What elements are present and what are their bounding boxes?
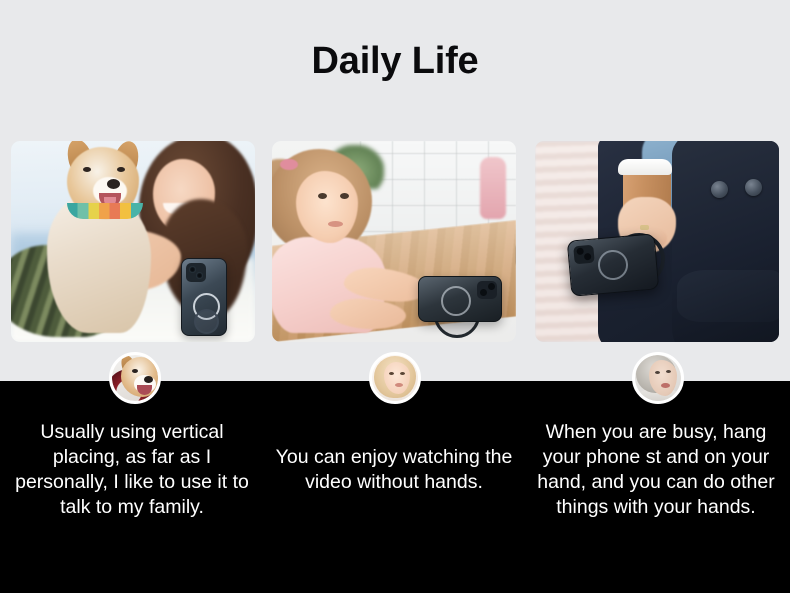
phone-hanging-from-finger (567, 234, 660, 297)
page-title: Daily Life (312, 40, 479, 101)
person-portrait-avatar (632, 352, 684, 404)
phone-with-ring-stand-horizontal (418, 276, 502, 322)
lifestyle-photo-1 (11, 141, 255, 342)
avatar-image (635, 355, 681, 401)
testimonial-caption-2: You can enjoy watching the video without… (268, 445, 520, 495)
child-eye-right (340, 193, 349, 199)
lips (661, 383, 670, 388)
eye-right (666, 370, 671, 373)
dog-nose (107, 179, 120, 189)
caption-row: Usually using vertical placing, as far a… (0, 420, 790, 550)
lifestyle-photo-3 (535, 141, 779, 342)
scene-coat-coffee (535, 141, 779, 342)
magsafe-ring-icon (597, 249, 630, 282)
eye-left (389, 372, 394, 375)
shiba-dog-avatar (109, 352, 161, 404)
scene-kitchen-child (272, 141, 516, 342)
child-eye-left (318, 193, 327, 199)
avatar-image (112, 355, 158, 401)
coat-button-1 (711, 181, 728, 198)
phone-camera-module (186, 263, 206, 282)
scene-beach-dog (11, 141, 255, 342)
product-feature-page: Daily Life (0, 0, 790, 593)
testimonial-caption-3: When you are busy, hang your phone st an… (528, 420, 784, 520)
testimonial-caption-1: Usually using vertical placing, as far a… (8, 420, 256, 520)
dog-nose (144, 376, 153, 383)
lips (395, 383, 403, 387)
pink-vase (480, 157, 506, 219)
face (384, 362, 410, 394)
photo-row (0, 141, 790, 342)
dog-beaded-collar (67, 203, 143, 219)
avatar-image (372, 355, 418, 401)
finger-ring (640, 225, 649, 230)
child-lips (328, 221, 343, 227)
hair-bow (280, 159, 298, 170)
dog-eye (132, 369, 138, 373)
dog-eye-right (117, 167, 125, 172)
phone-camera-module (477, 281, 497, 299)
phone-with-ring-stand-vertical (181, 258, 227, 336)
coffee-cup-lid (618, 159, 672, 175)
ring-stand-loop (194, 309, 219, 334)
dog-eye-left (83, 167, 91, 172)
eye-left (655, 371, 660, 374)
magsafe-ring-icon (441, 286, 471, 316)
phone-camera-module (573, 245, 594, 265)
coat-button-2 (745, 179, 762, 196)
lifestyle-photo-2 (272, 141, 516, 342)
coat-cuff (677, 270, 779, 322)
blonde-woman-avatar (369, 352, 421, 404)
eye-right (400, 372, 405, 375)
title-bar: Daily Life (0, 0, 790, 140)
